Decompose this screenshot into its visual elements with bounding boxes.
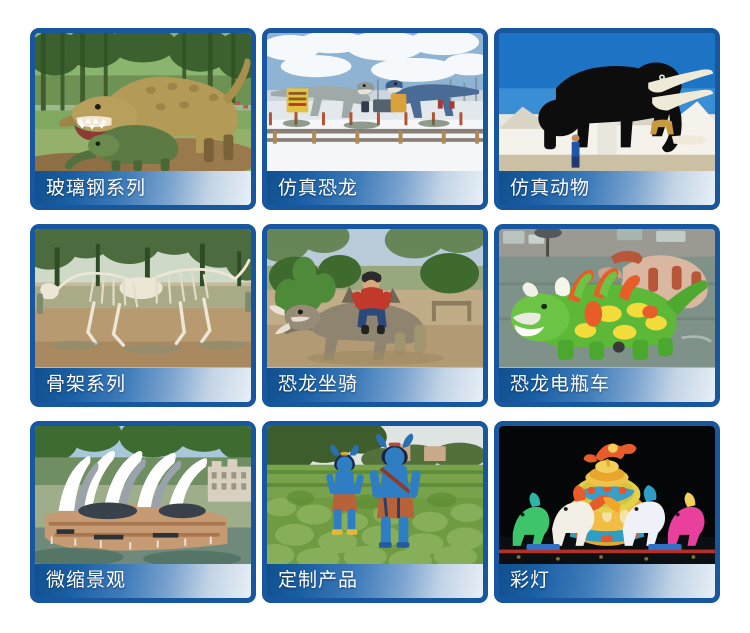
animatronic-mammoth-photo <box>499 33 715 171</box>
category-label-bar: 彩灯 <box>499 564 715 598</box>
category-label-bar: 微缩景观 <box>35 564 251 598</box>
miniature-landscape-photo <box>35 426 251 564</box>
category-label-bar: 仿真恐龙 <box>267 171 483 205</box>
festival-lantern-photo <box>499 426 715 564</box>
category-label-bar: 恐龙坐骑 <box>267 368 483 402</box>
category-label-bar: 骨架系列 <box>35 368 251 402</box>
category-label-text: 恐龙电瓶车 <box>510 375 610 394</box>
category-card-lantern[interactable]: 彩灯 <box>494 421 720 603</box>
category-label-bar: 恐龙电瓶车 <box>499 368 715 402</box>
category-label-bar: 玻璃钢系列 <box>35 171 251 205</box>
custom-product-photo <box>267 426 483 564</box>
category-label-text: 彩灯 <box>510 571 550 590</box>
category-grid: 玻璃钢系列 <box>0 0 750 633</box>
category-label-text: 恐龙坐骑 <box>278 375 358 394</box>
fiberglass-dinosaur-photo <box>35 33 251 171</box>
category-label-text: 玻璃钢系列 <box>46 179 146 198</box>
category-label-text: 骨架系列 <box>46 375 126 394</box>
dinosaur-skeleton-photo <box>35 229 251 367</box>
category-card-animatronic-dinosaur[interactable]: 仿真恐龙 <box>262 28 488 210</box>
category-card-dinosaur-battery-car[interactable]: 恐龙电瓶车 <box>494 224 720 406</box>
category-card-dinosaur-ride[interactable]: 恐龙坐骑 <box>262 224 488 406</box>
category-card-animatronic-animal[interactable]: 仿真动物 <box>494 28 720 210</box>
category-card-skeleton[interactable]: 骨架系列 <box>30 224 256 406</box>
category-card-fiberglass[interactable]: 玻璃钢系列 <box>30 28 256 210</box>
category-card-custom-product[interactable]: 定制产品 <box>262 421 488 603</box>
category-label-text: 仿真动物 <box>510 179 590 198</box>
category-label-text: 微缩景观 <box>46 571 126 590</box>
category-card-miniature-landscape[interactable]: 微缩景观 <box>30 421 256 603</box>
category-label-text: 定制产品 <box>278 571 358 590</box>
dinosaur-battery-car-photo <box>499 229 715 367</box>
category-label-text: 仿真恐龙 <box>278 179 358 198</box>
category-label-bar: 定制产品 <box>267 564 483 598</box>
animatronic-dinosaur-photo <box>267 33 483 171</box>
category-label-bar: 仿真动物 <box>499 171 715 205</box>
dinosaur-ride-photo <box>267 229 483 367</box>
